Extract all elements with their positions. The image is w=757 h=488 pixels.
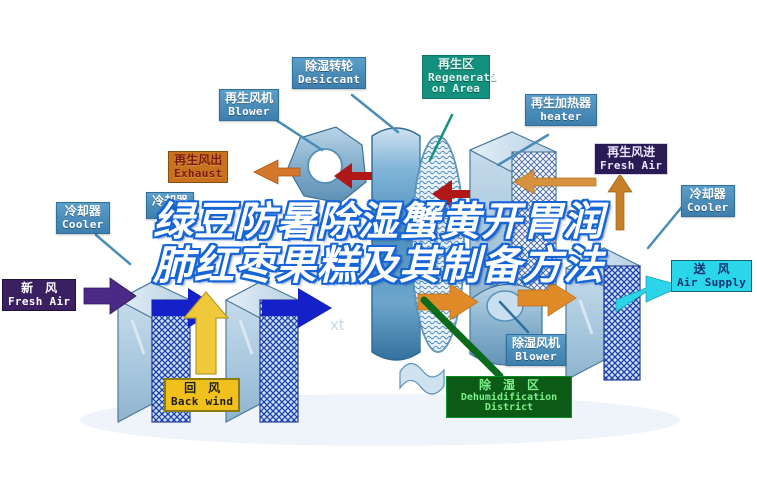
dehumidifier-schematic: xt xyxy=(0,0,757,488)
fresh-air-riser-arrow xyxy=(608,174,632,230)
callout-air-supply-en: Air Supply xyxy=(677,277,746,289)
callout-regeneration-area-en: Regenerati on Area xyxy=(428,72,484,95)
callout-regeneration-area-cn: 再生区 xyxy=(428,58,484,71)
callout-regeneration-area[interactable]: 再生区 Regenerati on Area xyxy=(422,55,490,99)
callout-cooler-mid[interactable]: 冷却器 xyxy=(146,192,194,219)
callout-regeneration-heater[interactable]: 再生加热器 heater xyxy=(525,94,597,126)
callout-back-wind[interactable]: 回 风 Back wind xyxy=(164,378,240,412)
callout-cooler-right-cn: 冷却器 xyxy=(687,188,729,201)
callout-dehumidification-district-en: Dehumidification District xyxy=(452,393,566,414)
callout-desiccant-wheel-en: Desiccant xyxy=(298,74,360,86)
regeneration-blower-housing xyxy=(288,127,366,203)
diagram-canvas: xt xyxy=(0,0,757,488)
callout-dehumidification-district[interactable]: 除 湿 区 Dehumidification District xyxy=(446,376,572,418)
callout-regeneration-blower-en: Blower xyxy=(225,106,273,118)
callout-regeneration-blower-cn: 再生风机 xyxy=(225,92,273,105)
callout-regeneration-exhaust-en: Exhaust xyxy=(174,168,222,180)
callout-dehumidification-district-cn: 除 湿 区 xyxy=(452,379,566,392)
callout-fresh-air-left-cn: 新 风 xyxy=(8,282,70,295)
callout-dehumidification-blower[interactable]: 除湿风机 Blower xyxy=(506,334,566,366)
callout-fresh-air-left[interactable]: 新 风 Fresh Air xyxy=(2,279,76,311)
callout-dehumidification-blower-cn: 除湿风机 xyxy=(512,337,560,350)
callout-dehumidification-blower-en: Blower xyxy=(512,351,560,363)
callout-cooler-mid-cn: 冷却器 xyxy=(152,195,188,208)
callout-regeneration-blower[interactable]: 再生风机 Blower xyxy=(219,89,279,121)
callout-regeneration-heater-en: heater xyxy=(531,111,591,123)
callout-regeneration-fresh-air[interactable]: 再生风进 Fresh Air xyxy=(594,143,668,175)
callout-regeneration-exhaust-cn: 再生风出 xyxy=(174,154,222,167)
callout-cooler-left-en: Cooler xyxy=(62,219,104,231)
callout-back-wind-cn: 回 风 xyxy=(171,382,233,395)
callout-regeneration-fresh-air-en: Fresh Air xyxy=(600,160,662,172)
callout-back-wind-en: Back wind xyxy=(171,396,233,408)
svg-text:xt: xt xyxy=(330,316,345,334)
callout-air-supply[interactable]: 送 风 Air Supply xyxy=(671,260,752,292)
callout-cooler-right-en: Cooler xyxy=(687,202,729,214)
callout-cooler-right[interactable]: 冷却器 Cooler xyxy=(681,185,735,217)
leader-cooler-left xyxy=(96,235,130,264)
callout-cooler-left[interactable]: 冷却器 Cooler xyxy=(56,202,110,234)
callout-regeneration-exhaust[interactable]: 再生风出 Exhaust xyxy=(168,151,228,183)
callout-desiccant-wheel-cn: 除湿转轮 xyxy=(298,60,360,73)
after-cooler-coil xyxy=(566,248,640,380)
callout-regeneration-heater-cn: 再生加热器 xyxy=(531,97,591,110)
callout-desiccant-wheel[interactable]: 除湿转轮 Desiccant xyxy=(292,57,366,89)
leader-desiccant xyxy=(352,95,398,132)
callout-air-supply-cn: 送 风 xyxy=(677,263,746,276)
callout-cooler-left-cn: 冷却器 xyxy=(62,205,104,218)
drip-tray xyxy=(400,363,444,394)
callout-regeneration-fresh-air-cn: 再生风进 xyxy=(600,146,662,159)
callout-fresh-air-left-en: Fresh Air xyxy=(8,296,70,308)
